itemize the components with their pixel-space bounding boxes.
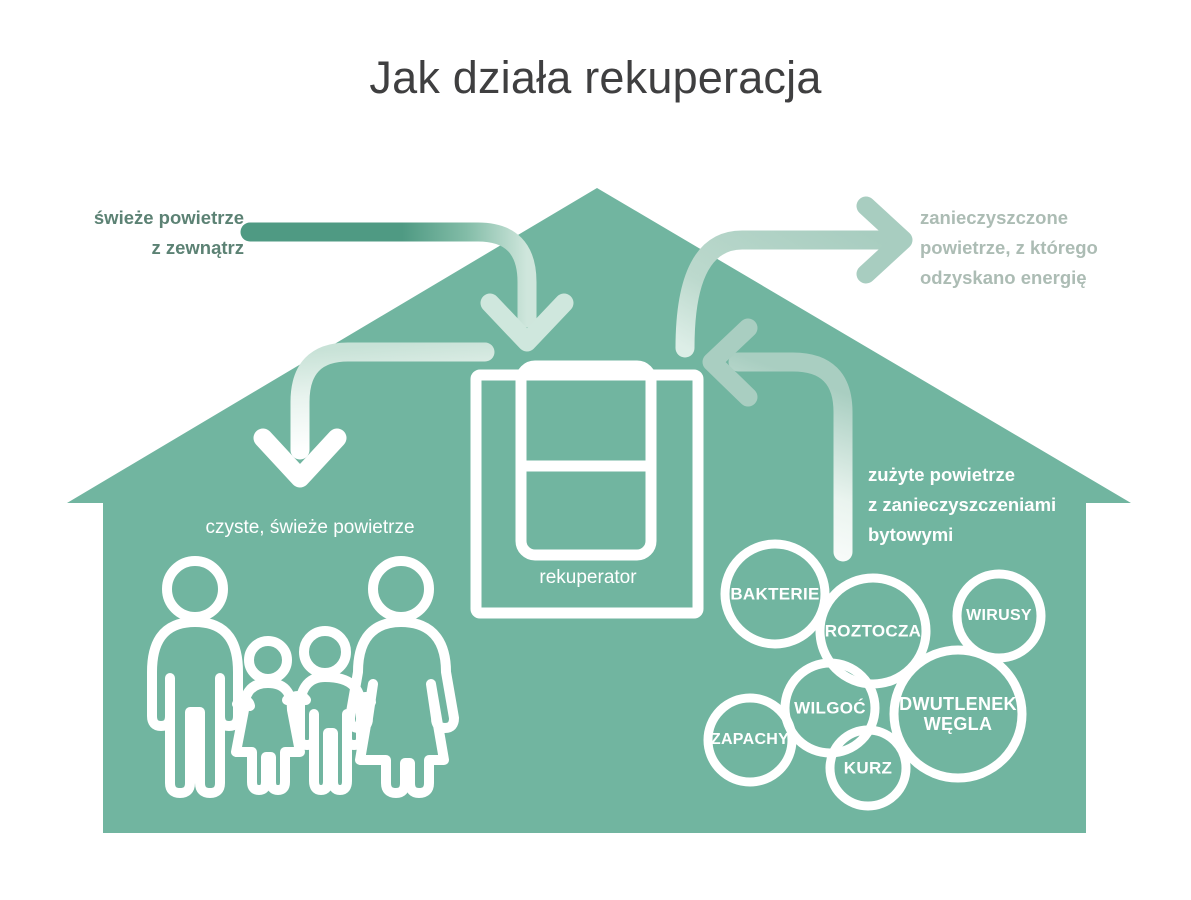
label-exhaust-recovered-energy: zanieczyszczone powietrze, z którego odz…	[920, 203, 1180, 293]
label-recuperator: rekuperator	[468, 567, 708, 589]
house-graphics-layer	[0, 0, 1191, 900]
infographic-canvas: Jak działa rekuperacja świeże powietrze …	[0, 0, 1191, 900]
page-title: Jak działa rekuperacja	[0, 52, 1191, 104]
label-used-air-pollutants: zużyte powietrze z zanieczyszczeniami by…	[868, 460, 1118, 550]
label-fresh-air-outside: świeże powietrze z zewnątrz	[0, 203, 244, 263]
label-clean-fresh-air: czyste, świeże powietrze	[150, 515, 470, 541]
